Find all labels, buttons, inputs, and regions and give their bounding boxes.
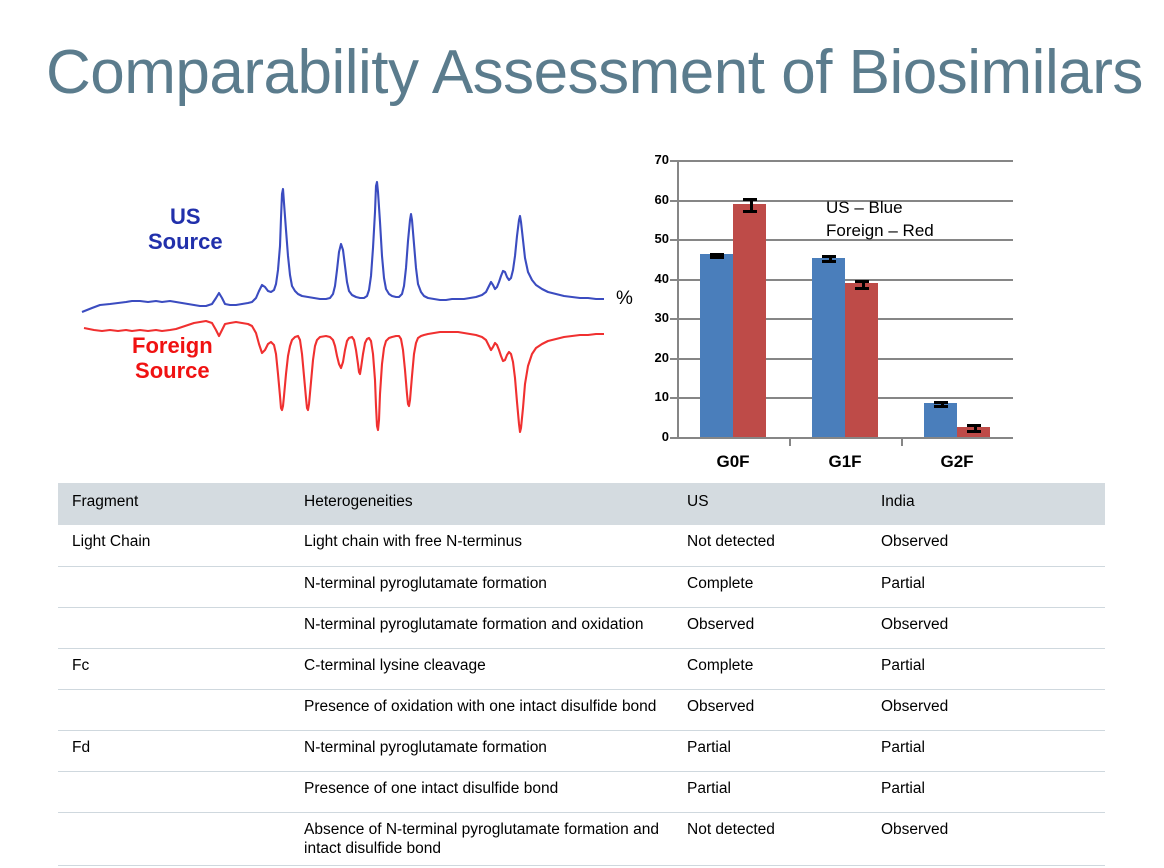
y-tick-label: 40 — [629, 271, 669, 286]
error-bar-cap — [967, 424, 981, 427]
error-bar-cap — [710, 256, 724, 259]
legend-line-foreign: Foreign – Red — [826, 219, 934, 242]
error-bar-cap — [822, 255, 836, 258]
y-tick-label: 20 — [629, 350, 669, 365]
us-source-label-line1: US — [170, 204, 201, 229]
y-tick-mark — [670, 160, 677, 162]
glycan-distribution-bar-chart: % 010203040506070G0FG1FG2F US – Blue For… — [608, 148, 1148, 478]
cell-us: Complete — [673, 566, 867, 607]
us-source-label: US Source — [148, 204, 223, 254]
error-bar-cap — [934, 405, 948, 408]
chart-legend: US – Blue Foreign – Red — [826, 196, 934, 242]
cell-heterogeneity: N-terminal pyroglutamate formation — [290, 566, 673, 607]
foreign-source-label-line1: Foreign — [132, 333, 213, 358]
spectrum-figure: US Source Foreign Source — [70, 158, 610, 458]
cell-us: Observed — [673, 689, 867, 730]
error-bar-cap — [855, 287, 869, 290]
y-tick-label: 70 — [629, 152, 669, 167]
cell-fragment: Fc — [58, 648, 290, 689]
bar-foreign-g1f — [845, 283, 878, 437]
page-title: Comparability Assessment of Biosimilars — [46, 38, 1136, 108]
table-body: Light ChainLight chain with free N-termi… — [58, 525, 1105, 865]
cell-india: Partial — [867, 771, 1105, 812]
cell-heterogeneity: Absence of N-terminal pyroglutamate form… — [290, 812, 673, 865]
x-category-label-g0f: G0F — [678, 452, 788, 472]
y-tick-label: 60 — [629, 192, 669, 207]
table-header-fragment: Fragment — [58, 483, 290, 525]
table-row: FcC-terminal lysine cleavageCompletePart… — [58, 648, 1105, 689]
bar-us-g0f — [700, 254, 733, 437]
table-row: FdN-terminal pyroglutamate formationPart… — [58, 730, 1105, 771]
cell-us: Complete — [673, 648, 867, 689]
y-tick-mark — [670, 437, 677, 439]
bar-us-g1f — [812, 258, 845, 437]
cell-us: Partial — [673, 771, 867, 812]
table-row: Absence of N-terminal pyroglutamate form… — [58, 812, 1105, 865]
cell-us: Observed — [673, 607, 867, 648]
foreign-source-label: Foreign Source — [132, 333, 213, 383]
table-row: N-terminal pyroglutamate formation and o… — [58, 607, 1105, 648]
cell-fragment — [58, 566, 290, 607]
y-tick-label: 10 — [629, 389, 669, 404]
x-tick-mark — [789, 437, 791, 446]
legend-line-us: US – Blue — [826, 196, 934, 219]
cell-heterogeneity: N-terminal pyroglutamate formation — [290, 730, 673, 771]
cell-heterogeneity: N-terminal pyroglutamate formation and o… — [290, 607, 673, 648]
error-bar-cap — [967, 430, 981, 433]
us-source-label-line2: Source — [148, 229, 223, 254]
foreign-source-label-line2: Source — [135, 358, 210, 383]
cell-india: Partial — [867, 730, 1105, 771]
chart-y-axis-label: % — [616, 288, 633, 310]
table-row: Light ChainLight chain with free N-termi… — [58, 525, 1105, 566]
cell-india: Partial — [867, 648, 1105, 689]
bar-us-g2f — [924, 403, 957, 437]
x-category-label-g1f: G1F — [790, 452, 900, 472]
cell-fragment — [58, 607, 290, 648]
cell-fragment: Light Chain — [58, 525, 290, 566]
error-bar-cap — [934, 401, 948, 404]
table-row: Presence of one intact disulfide bondPar… — [58, 771, 1105, 812]
y-tick-mark — [670, 358, 677, 360]
cell-india: Observed — [867, 689, 1105, 730]
spectrum-traces-svg — [70, 158, 610, 458]
cell-india: Observed — [867, 525, 1105, 566]
y-tick-mark — [670, 239, 677, 241]
cell-us: Not detected — [673, 525, 867, 566]
error-bar-cap — [822, 260, 836, 263]
cell-heterogeneity: Presence of one intact disulfide bond — [290, 771, 673, 812]
cell-us: Not detected — [673, 812, 867, 865]
cell-india: Observed — [867, 812, 1105, 865]
table-row: N-terminal pyroglutamate formationComple… — [58, 566, 1105, 607]
x-axis-line — [677, 437, 1013, 439]
error-bar-cap — [855, 280, 869, 283]
y-tick-label: 30 — [629, 310, 669, 325]
table-header-india: India — [867, 483, 1105, 525]
y-tick-mark — [670, 397, 677, 399]
cell-fragment — [58, 689, 290, 730]
bar-foreign-g0f — [733, 204, 766, 437]
cell-fragment: Fd — [58, 730, 290, 771]
y-tick-mark — [670, 279, 677, 281]
x-tick-mark — [901, 437, 903, 446]
table-row: Presence of oxidation with one intact di… — [58, 689, 1105, 730]
y-tick-mark — [670, 200, 677, 202]
x-category-label-g2f: G2F — [902, 452, 1012, 472]
cell-fragment — [58, 812, 290, 865]
table-header-heterogeneities: Heterogeneities — [290, 483, 673, 525]
cell-fragment — [58, 771, 290, 812]
cell-india: Partial — [867, 566, 1105, 607]
y-tick-mark — [670, 318, 677, 320]
cell-heterogeneity: C-terminal lysine cleavage — [290, 648, 673, 689]
error-bar-cap — [743, 198, 757, 201]
cell-heterogeneity: Light chain with free N-terminus — [290, 525, 673, 566]
gridline — [677, 160, 1013, 162]
y-tick-label: 0 — [629, 429, 669, 444]
cell-heterogeneity: Presence of oxidation with one intact di… — [290, 689, 673, 730]
table-header-row: Fragment Heterogeneities US India — [58, 483, 1105, 525]
error-bar-cap — [743, 210, 757, 213]
cell-india: Observed — [867, 607, 1105, 648]
table-header-us: US — [673, 483, 867, 525]
heterogeneity-comparison-table: Fragment Heterogeneities US India Light … — [58, 483, 1105, 866]
y-tick-label: 50 — [629, 231, 669, 246]
cell-us: Partial — [673, 730, 867, 771]
